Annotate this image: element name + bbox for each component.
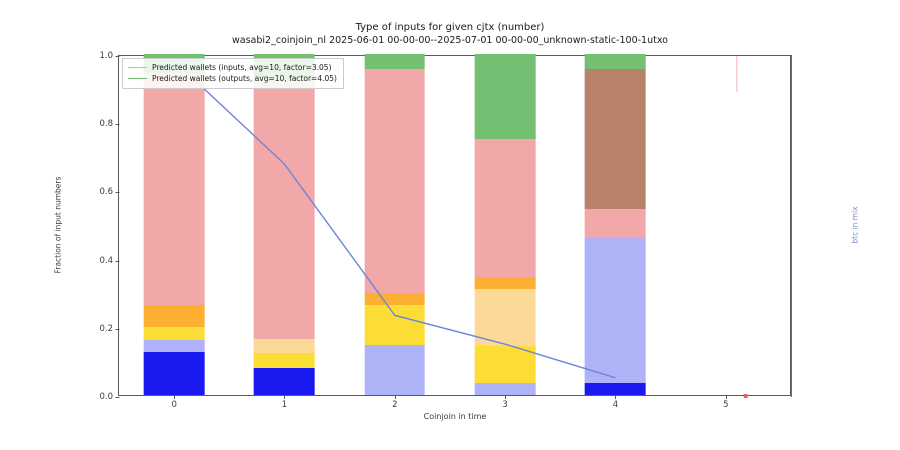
chart-title: Type of inputs for given cjtx (number) (0, 22, 900, 35)
y-axis-tick-label: 0.8 (99, 119, 119, 129)
legend-item: Predicted wallets (inputs, avg=10, facto… (128, 62, 337, 73)
x-axis-tick-label: 0 (171, 400, 176, 410)
plot-inner: 0.00.20.40.60.81.0 −0.03−0.04−0.05−0.06−… (119, 56, 790, 395)
legend-label-inputs: Predicted wallets (inputs, avg=10, facto… (152, 63, 332, 72)
btc-in-mix-line (174, 61, 615, 378)
y-axis-tick-label: 0.4 (99, 256, 119, 266)
x-axis-tick-label: 2 (392, 400, 397, 410)
x-axis-tick-label: 1 (282, 400, 287, 410)
legend-label-outputs: Predicted wallets (outputs, avg=10, fact… (152, 74, 337, 83)
plot-area: 0.00.20.40.60.81.0 −0.03−0.04−0.05−0.06−… (118, 55, 791, 396)
overlay-lines (119, 56, 792, 397)
chart-figure: Type of inputs for given cjtx (number) w… (0, 0, 900, 450)
x-axis-tick-label: 5 (723, 400, 728, 410)
legend-swatch-outputs (128, 78, 147, 79)
chart-legend: Predicted wallets (inputs, avg=10, facto… (122, 58, 344, 89)
y-axis-tick-label: 1.0 (99, 51, 119, 61)
x-axis-tick-label: 3 (502, 400, 507, 410)
y-axis-tick-label: 0.0 (99, 392, 119, 402)
baseline-marker-dot (744, 394, 748, 398)
chart-subtitle: wasabi2_coinjoin_nl 2025-06-01 00-00-00-… (0, 35, 900, 47)
y-axis-label: Fraction of input numbers (54, 177, 63, 274)
secondary-y-axis-label: btc in mix (851, 206, 860, 243)
y-axis-tick-label: 0.6 (99, 187, 119, 197)
x-axis-label: Coinjoin in time (424, 412, 487, 421)
legend-swatch-inputs (128, 67, 147, 68)
chart-title-block: Type of inputs for given cjtx (number) w… (0, 22, 900, 46)
legend-item: Predicted wallets (outputs, avg=10, fact… (128, 73, 337, 84)
y-axis-tick-label: 0.2 (99, 324, 119, 334)
x-axis-tick-label: 4 (613, 400, 618, 410)
